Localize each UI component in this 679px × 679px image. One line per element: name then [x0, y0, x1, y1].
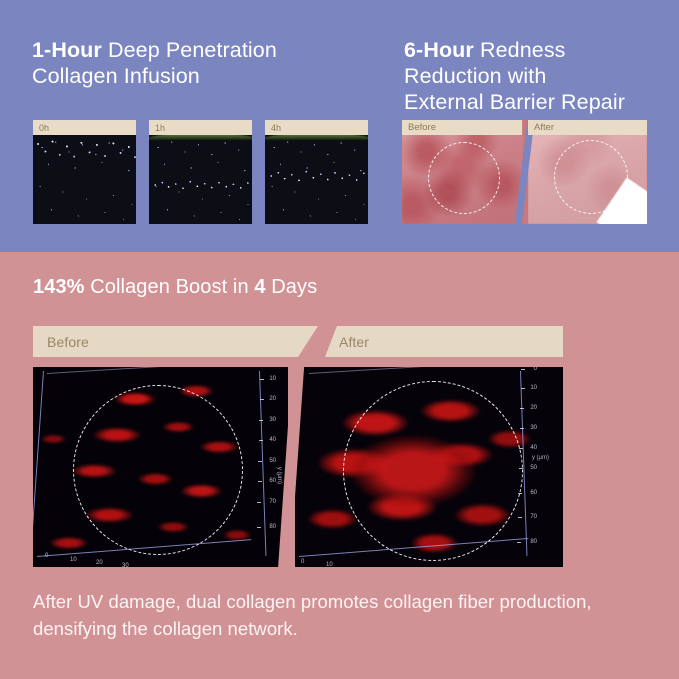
bottom-heading: 143% Collagen Boost in 4 Days — [33, 274, 317, 300]
region-of-interest-circle — [554, 140, 628, 214]
erythema-comparison: Before After — [402, 120, 647, 224]
micrograph-1h: 1h — [149, 120, 252, 224]
bottom-heading-percent: 143% — [33, 276, 85, 298]
top-panel: 1-Hour Deep Penetration Collagen Infusio… — [0, 0, 679, 252]
collagen-penetration-band — [149, 177, 252, 193]
top-left-heading-bold: 1-Hour — [32, 38, 102, 62]
collagen-before-label-strip: Before — [33, 326, 318, 357]
collagen-after-label: After — [325, 326, 563, 350]
micrograph-0h: 0h — [33, 120, 136, 224]
collagen-penetration-band — [265, 165, 368, 187]
collagen-comparison: 10 20 30 40 50 60 70 80 y (μm) 0 10 20 3 — [33, 367, 563, 567]
micrograph-4h-label: 4h — [265, 123, 281, 133]
erythema-before-label-strip: Before — [402, 120, 522, 135]
infographic-root: 1-Hour Deep Penetration Collagen Infusio… — [0, 0, 679, 679]
micrograph-1h-label-strip: 1h — [149, 120, 252, 135]
region-of-interest-circle — [73, 385, 243, 555]
bottom-heading-mid: Collagen Boost in — [85, 276, 255, 298]
erythema-after-photo — [528, 120, 647, 224]
top-left-heading: 1-Hour Deep Penetration Collagen Infusio… — [32, 37, 372, 89]
erythema-before-photo — [402, 120, 523, 224]
top-right-heading-bold: 6-Hour — [404, 38, 474, 62]
nuclei-speckle — [33, 135, 136, 224]
collagen-after-label-strip: After — [325, 326, 563, 357]
erythema-after-label-strip: After — [528, 120, 647, 135]
micrograph-1h-label: 1h — [149, 123, 165, 133]
bottom-heading-days-number: 4 — [254, 276, 265, 298]
top-right-heading: 6-Hour Redness Reduction with External B… — [404, 37, 666, 115]
micrograph-0h-image — [33, 135, 136, 224]
micrograph-4h: 4h — [265, 120, 368, 224]
micrograph-4h-label-strip: 4h — [265, 120, 368, 135]
bottom-heading-end: Days — [266, 276, 318, 298]
collagen-before-image: 10 20 30 40 50 60 70 80 y (μm) 0 10 20 3 — [33, 367, 288, 567]
micrograph-0h-label-strip: 0h — [33, 120, 136, 135]
collagen-after-image: 0 10 20 30 40 50 60 70 80 y (μm) 0 10 — [295, 367, 563, 567]
region-of-interest-circle — [428, 142, 500, 214]
bottom-caption: After UV damage, dual collagen promotes … — [33, 588, 643, 642]
erythema-before-label: Before — [402, 122, 436, 133]
collagen-before-label: Before — [33, 326, 318, 350]
erythema-after-label: After — [528, 122, 554, 133]
timepoint-micrograph-group: 0h 1h 4h — [33, 120, 368, 224]
micrograph-0h-label: 0h — [33, 123, 49, 133]
micrograph-1h-image — [149, 135, 252, 224]
micrograph-4h-image — [265, 135, 368, 224]
region-of-interest-circle — [343, 381, 523, 561]
